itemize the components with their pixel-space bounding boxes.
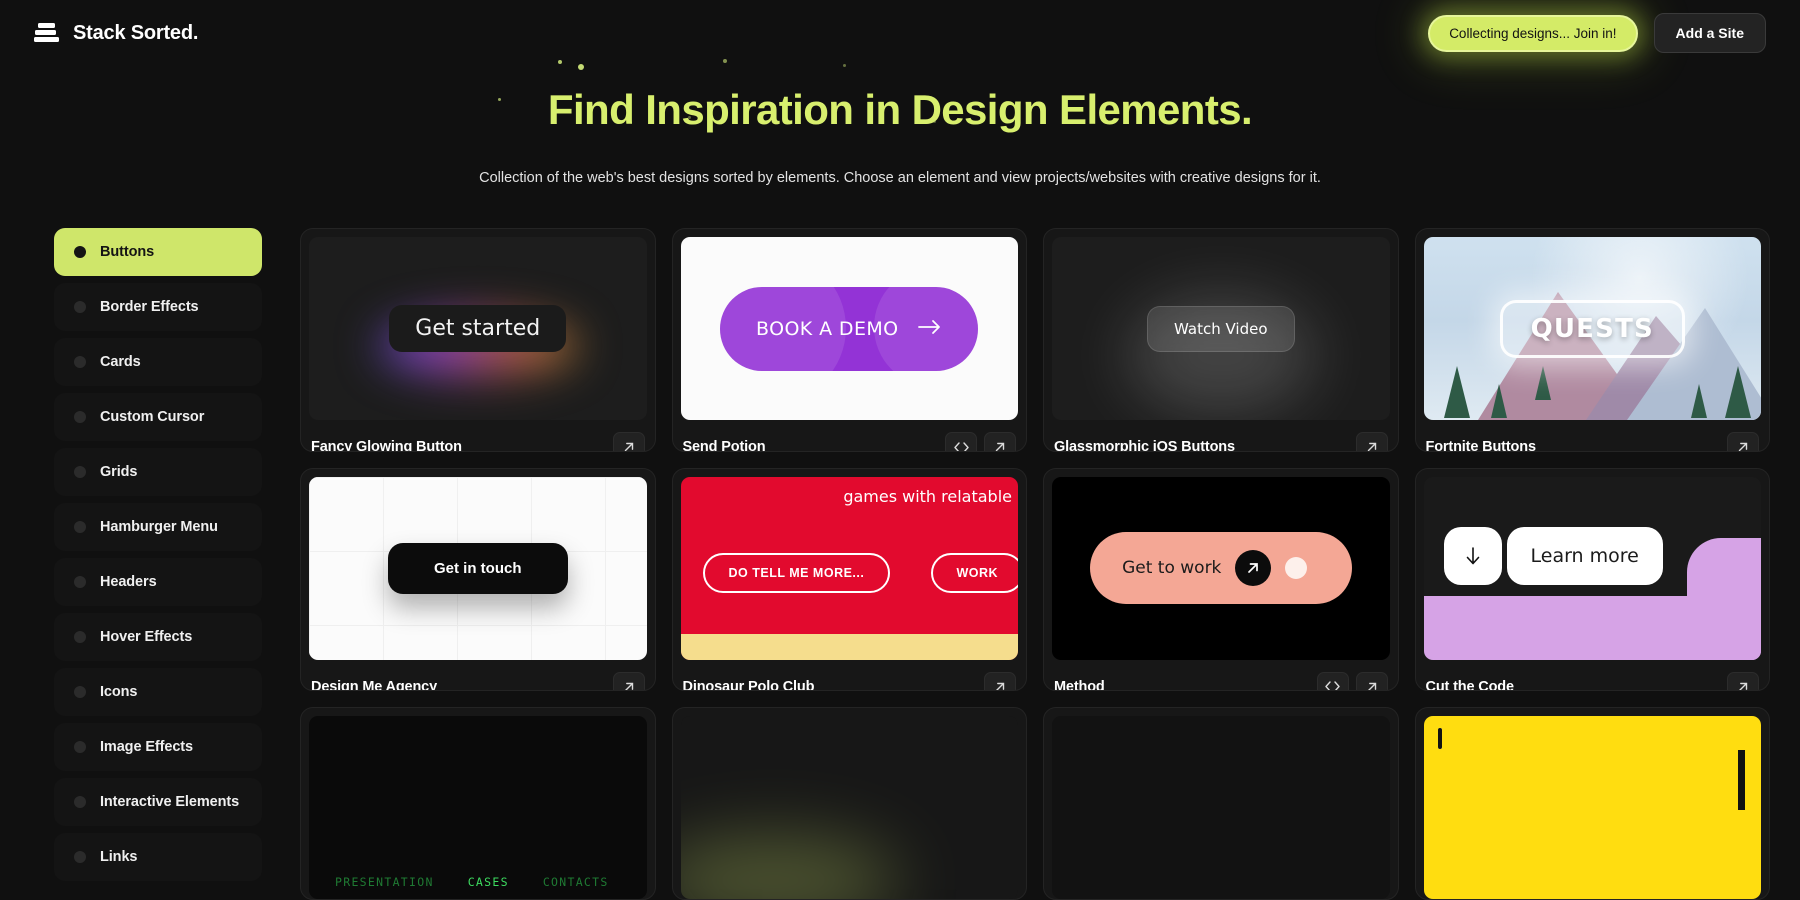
terminal-nav-item: CASES [468,875,509,889]
design-card[interactable]: games with relatable DO TELL ME MORE... … [672,468,1028,692]
sidebar-item-label: Headers [100,574,157,590]
sidebar-item-hamburger-menu[interactable]: Hamburger Menu [54,503,262,551]
design-card[interactable]: Get in touch Design Me Agency [300,468,656,692]
get-to-work-button-art: Get to work [1090,532,1352,604]
card-preview [1424,716,1762,899]
sidebar-item-label: Hamburger Menu [100,519,218,535]
add-a-site-button[interactable]: Add a Site [1654,13,1766,53]
page-title: Find Inspiration in Design Elements. [548,86,1252,134]
design-card[interactable]: Get to work Method [1043,468,1399,692]
sidebar-item-label: Links [100,849,137,865]
design-card-grid: Get started Fancy Glowing Button B [300,228,1800,900]
card-preview: Get to work [1052,477,1390,660]
arrow-up-right-icon[interactable] [1727,672,1759,692]
book-a-demo-button-art: BOOK A DEMO [720,287,978,371]
sidebar-item-label: Grids [100,464,137,480]
arrow-down-icon [1444,527,1502,585]
bullet-dot-icon [74,796,86,808]
card-title: Fortnite Buttons [1426,439,1536,452]
card-actions [984,672,1016,692]
card-actions [613,672,645,692]
arrow-up-right-icon[interactable] [1727,432,1759,452]
preview-caption: games with relatable [843,487,1012,506]
card-footer: Dinosaur Polo Club [681,660,1019,692]
card-preview: BOOK A DEMO [681,237,1019,420]
decorative-dot [1285,557,1307,579]
sidebar-item-grids[interactable]: Grids [54,448,262,496]
sidebar: Buttons Border Effects Cards Custom Curs… [0,228,300,900]
card-actions [1727,432,1759,452]
page-subtitle: Collection of the web's best designs sor… [0,170,1800,186]
preview-button-label-2: WORK [931,553,1019,593]
terminal-nav-item: CONTACTS [543,875,609,889]
sparkle-dot-icon [933,120,936,123]
arrow-up-right-icon [1235,550,1271,586]
terminal-art: PRESENTATION CASES CONTACTS [309,716,647,899]
card-preview [1052,716,1390,899]
card-preview [681,716,1019,899]
sidebar-item-cards[interactable]: Cards [54,338,262,386]
preview-button-label: QUESTS [1500,300,1685,358]
card-preview: PRESENTATION CASES CONTACTS [309,716,647,899]
main-content: Buttons Border Effects Cards Custom Curs… [0,228,1800,900]
stacked-bars-logo-icon [34,20,60,46]
card-preview: games with relatable DO TELL ME MORE... … [681,477,1019,660]
brand[interactable]: Stack Sorted. [34,20,198,46]
pine-tree-icon [1725,366,1751,418]
brand-name: Stack Sorted. [73,22,198,45]
design-card[interactable]: Learn more Cut the Code [1415,468,1771,692]
sidebar-item-label: Buttons [100,244,154,260]
arrow-up-right-icon[interactable] [984,432,1016,452]
preview-button-label: Get to work [1122,558,1221,578]
pine-tree-icon [1535,366,1551,400]
collecting-designs-cta[interactable]: Collecting designs... Join in! [1428,15,1637,52]
card-actions [945,432,1016,452]
glowing-button-art: Get started [389,316,566,341]
design-card[interactable] [1415,707,1771,900]
design-card[interactable]: BOOK A DEMO Send Potion [672,228,1028,452]
bullet-dot-icon [74,521,86,533]
terminal-nav: PRESENTATION CASES CONTACTS [335,875,609,889]
bullet-dot-icon [74,576,86,588]
card-title: Design Me Agency [311,679,437,692]
card-preview: Learn more [1424,477,1762,660]
card-title: Cut the Code [1426,679,1514,692]
card-footer: Fancy Glowing Button [309,420,647,452]
button-group: Learn more [1444,527,1663,585]
arrow-right-icon [917,318,943,340]
code-brackets-icon[interactable] [1317,672,1349,692]
card-footer: Method [1052,660,1390,692]
bullet-dot-icon [74,246,86,258]
bullet-dot-icon [74,356,86,368]
card-title: Dinosaur Polo Club [683,679,815,692]
design-card[interactable]: Watch Video Glassmorphic iOS Buttons [1043,228,1399,452]
cream-inner-panel [1438,728,1442,749]
preview-button-label: BOOK A DEMO [756,318,899,340]
hero-section: Find Inspiration in Design Elements. Col… [0,86,1800,186]
card-actions [613,432,645,452]
bullet-dot-icon [74,851,86,863]
card-title: Fancy Glowing Button [311,439,462,452]
arrow-up-right-icon[interactable] [613,672,645,692]
sidebar-item-label: Cards [100,354,141,370]
yellow-card-art [1424,716,1762,899]
sidebar-item-hover-effects[interactable]: Hover Effects [54,613,262,661]
card-title: Method [1054,679,1105,692]
card-footer: Design Me Agency [309,660,647,692]
preview-button-label: Learn more [1507,527,1663,585]
sidebar-item-links[interactable]: Links [54,833,262,881]
sparkle-dot-icon [498,98,501,101]
preview-button-label: Get started [389,305,566,352]
preview-button-label: DO TELL ME MORE... [703,553,891,593]
yellow-strip [681,634,1019,660]
arrow-up-right-icon[interactable] [1356,672,1388,692]
sidebar-item-label: Border Effects [100,299,199,315]
arrow-up-right-icon[interactable] [613,432,645,452]
sidebar-item-icons[interactable]: Icons [54,668,262,716]
design-card[interactable]: QUESTS Fortnite Buttons [1415,228,1771,452]
design-card[interactable]: PRESENTATION CASES CONTACTS [300,707,656,900]
cut-the-code-art: Learn more [1424,477,1762,660]
sidebar-item-interactive-elements[interactable]: Interactive Elements [54,778,262,826]
card-actions [1727,672,1759,692]
sparkle-dot-icon [688,116,691,119]
card-footer: Send Potion [681,420,1019,452]
card-footer: Fortnite Buttons [1424,420,1762,452]
sidebar-item-label: Icons [100,684,137,700]
dinosaur-polo-art: games with relatable DO TELL ME MORE... … [681,477,1019,660]
sidebar-item-border-effects[interactable]: Border Effects [54,283,262,331]
top-bar: Stack Sorted. Collecting designs... Join… [0,0,1800,66]
sidebar-item-buttons[interactable]: Buttons [54,228,262,276]
card-footer: Glassmorphic iOS Buttons [1052,420,1390,452]
preview-button-label: Watch Video [1147,306,1295,352]
design-card[interactable] [1043,707,1399,900]
card-footer: Cut the Code [1424,660,1762,692]
bullet-dot-icon [74,411,86,423]
card-preview: Get started [309,237,647,420]
design-card[interactable] [672,707,1028,900]
pine-tree-icon [1691,384,1707,418]
sidebar-item-label: Custom Cursor [100,409,204,425]
bullet-dot-icon [74,631,86,643]
sidebar-item-label: Image Effects [100,739,193,755]
sidebar-item-label: Hover Effects [100,629,192,645]
green-glow-art [681,716,1019,899]
sidebar-item-image-effects[interactable]: Image Effects [54,723,262,771]
top-bar-actions: Collecting designs... Join in! Add a Sit… [1428,13,1766,53]
bullet-dot-icon [74,301,86,313]
card-actions [1317,672,1388,692]
sidebar-item-headers[interactable]: Headers [54,558,262,606]
card-title: Glassmorphic iOS Buttons [1054,439,1235,452]
terminal-nav-item: PRESENTATION [335,875,434,889]
dark-preview-art [1052,716,1390,899]
black-bar [1738,750,1745,810]
page-title-text: Find Inspiration in Design Elements. [548,86,1252,133]
bullet-dot-icon [74,466,86,478]
card-preview: QUESTS [1424,237,1762,420]
sidebar-item-custom-cursor[interactable]: Custom Cursor [54,393,262,441]
arrow-up-right-icon[interactable] [984,672,1016,692]
card-preview: Watch Video [1052,237,1390,420]
purple-column [1687,538,1761,660]
bullet-dot-icon [74,741,86,753]
card-actions [1356,432,1388,452]
code-brackets-icon[interactable] [945,432,977,452]
preview-button-label: Get in touch [388,543,568,594]
card-title: Send Potion [683,439,766,452]
bullet-dot-icon [74,686,86,698]
design-card[interactable]: Get started Fancy Glowing Button [300,228,656,452]
pine-tree-icon [1491,384,1507,418]
pine-tree-icon [1444,366,1470,418]
sidebar-item-label: Interactive Elements [100,794,239,810]
arrow-up-right-icon[interactable] [1356,432,1388,452]
card-preview: Get in touch [309,477,647,660]
